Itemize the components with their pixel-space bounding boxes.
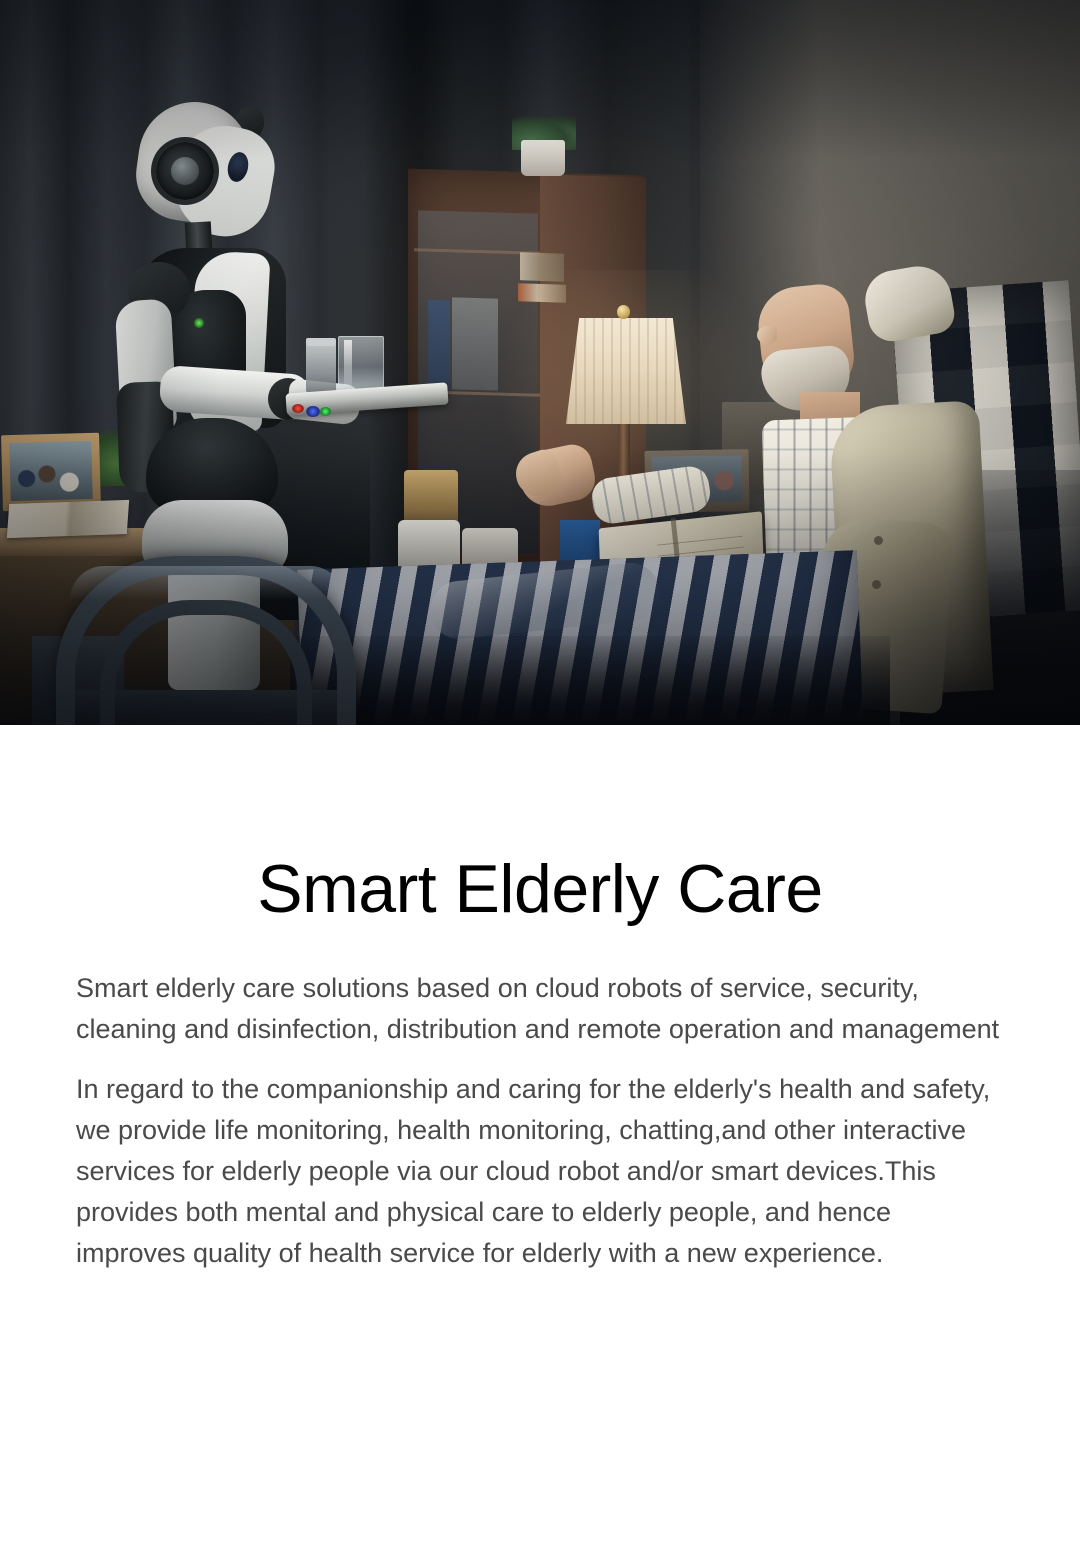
shelf-book-grey <box>452 297 498 390</box>
lamp-shade <box>566 318 686 424</box>
content-section: Smart Elderly Care Smart elderly care so… <box>0 725 1080 1561</box>
water-glass-highlight <box>344 340 352 386</box>
hero-image <box>0 0 1080 725</box>
body-copy: Smart elderly care solutions based on cl… <box>76 968 1008 1274</box>
medicine-bottle <box>306 344 336 392</box>
bed-rail-highlight <box>70 566 344 600</box>
potted-plant-pot <box>521 140 565 176</box>
tray-led-green <box>320 407 331 416</box>
medicine-bottle-cap <box>306 338 336 346</box>
tray-led-red <box>292 404 304 413</box>
cardigan-button-2 <box>872 580 881 589</box>
open-book-on-desk <box>7 500 129 538</box>
elderly-man-nose <box>757 326 777 344</box>
page-title: Smart Elderly Care <box>0 855 1080 923</box>
description-paragraph-1: Smart elderly care solutions based on cl… <box>76 968 1008 1050</box>
tray-led-blue <box>306 406 320 417</box>
desk-photo-image <box>9 441 92 501</box>
cardigan-button-1 <box>874 536 883 545</box>
description-paragraph-2: In regard to the companionship and carin… <box>76 1069 1008 1274</box>
robot-status-led <box>194 318 204 328</box>
lamp-finial <box>617 305 630 319</box>
bedding-shadow <box>290 636 890 725</box>
shelf-book-blue <box>428 300 450 389</box>
robot-camera-lens <box>171 157 199 185</box>
